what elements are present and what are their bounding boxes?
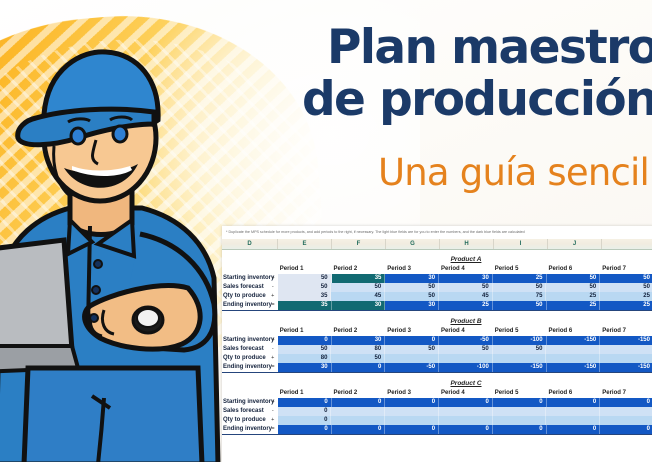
product-title: Product B <box>222 317 652 326</box>
calculated-cell[interactable]: 0 <box>332 363 386 372</box>
input-cell[interactable]: 50 <box>439 283 493 292</box>
period-header: Period 6 <box>546 265 600 274</box>
page-title: Plan maestro de producción <box>327 22 652 126</box>
period-header: Period 4 <box>439 265 493 274</box>
period-header: Period 5 <box>493 265 547 274</box>
table-row: Sales forecast-0 <box>222 407 652 416</box>
input-cell[interactable] <box>600 416 652 425</box>
calculated-cell[interactable]: -50 <box>439 336 493 345</box>
row-label: Sales forecast <box>222 345 268 354</box>
calculated-cell[interactable]: 0 <box>439 425 493 434</box>
calculated-cell[interactable]: 30 <box>439 274 493 283</box>
column-letter-d[interactable]: D <box>222 239 278 249</box>
row-label: Sales forecast <box>222 407 268 416</box>
period-header: Period 3 <box>385 327 439 336</box>
row-operator: - <box>268 283 278 292</box>
input-cell[interactable] <box>439 416 493 425</box>
input-cell[interactable] <box>385 416 439 425</box>
product-title: Product C <box>222 379 652 388</box>
period-header-row: Period 1Period 2Period 3Period 4Period 5… <box>222 326 652 336</box>
row-label: Starting inventory <box>222 398 268 407</box>
calculated-cell[interactable]: 25 <box>439 301 493 310</box>
calculated-cell[interactable]: -150 <box>493 363 547 372</box>
calculated-cell[interactable]: 50 <box>547 274 601 283</box>
row-label: Ending inventory <box>222 301 268 310</box>
calculated-cell[interactable]: 0 <box>385 425 439 434</box>
title-line-2: de producción <box>302 74 652 126</box>
title-line-1: Plan maestro <box>327 22 652 74</box>
input-cell[interactable]: 50 <box>278 283 332 292</box>
period-header: Period 2 <box>331 327 385 336</box>
row-operator: + <box>268 274 278 283</box>
column-letter-i[interactable]: I <box>494 239 548 249</box>
input-cell[interactable]: 50 <box>439 345 493 354</box>
calculated-cell[interactable]: 0 <box>332 398 386 407</box>
calculated-cell[interactable]: 0 <box>600 425 652 434</box>
calculated-cell[interactable]: 0 <box>278 336 332 345</box>
input-cell[interactable]: 80 <box>331 345 385 354</box>
row-operator: + <box>268 336 278 345</box>
row-operator: + <box>268 292 278 301</box>
column-letter-j[interactable]: J <box>548 239 602 249</box>
input-cell[interactable]: 0 <box>278 407 332 416</box>
table-row: Ending inventory=0000000 <box>222 425 652 435</box>
row-operator: + <box>268 398 278 407</box>
row-label: Ending inventory <box>222 425 268 434</box>
calculated-cell[interactable]: 30 <box>385 274 439 283</box>
input-cell[interactable] <box>546 345 600 354</box>
calculated-cell[interactable]: -50 <box>385 363 439 372</box>
period-header: Period 2 <box>331 389 385 398</box>
row-operator: + <box>268 354 278 363</box>
input-cell[interactable]: 50 <box>385 345 439 354</box>
input-cell[interactable]: 50 <box>278 345 332 354</box>
calculated-cell[interactable]: 35 <box>332 274 386 283</box>
table-row: Ending inventory=300-50-100-150-150-150 <box>222 363 652 373</box>
calculated-cell[interactable]: -150 <box>600 363 652 372</box>
period-header: Period 4 <box>439 389 493 398</box>
calculated-cell[interactable]: 30 <box>332 301 386 310</box>
row-operator: = <box>268 363 278 372</box>
period-header: Period 1 <box>278 389 332 398</box>
sheet-note: * Duplicate the MPS schedule for more pr… <box>226 229 652 235</box>
input-cell[interactable] <box>493 354 547 363</box>
period-header: Period 5 <box>493 327 547 336</box>
row-operator: - <box>268 407 278 416</box>
calculated-cell[interactable]: 0 <box>493 398 547 407</box>
input-cell[interactable] <box>546 407 600 416</box>
row-label: Ending inventory <box>222 363 268 372</box>
period-header: Period 3 <box>385 389 439 398</box>
period-header: Period 1 <box>278 265 332 274</box>
sheet-grid[interactable]: Product APeriod 1Period 2Period 3Period … <box>222 249 652 435</box>
input-cell[interactable] <box>331 416 385 425</box>
input-cell[interactable] <box>439 354 493 363</box>
table-row: Starting inventory+0000000 <box>222 398 652 407</box>
calculated-cell[interactable]: 30 <box>332 336 386 345</box>
input-cell[interactable]: 50 <box>493 283 547 292</box>
calculated-cell[interactable]: 50 <box>278 274 332 283</box>
input-cell[interactable]: 35 <box>278 292 332 301</box>
input-cell[interactable]: 50 <box>385 283 439 292</box>
input-cell[interactable]: 45 <box>439 292 493 301</box>
input-cell[interactable] <box>546 354 600 363</box>
row-label: Sales forecast <box>222 283 268 292</box>
row-label: Qty to produce <box>222 354 268 363</box>
column-letter-h[interactable]: H <box>440 239 494 249</box>
calculated-cell[interactable]: 30 <box>385 301 439 310</box>
period-header-row: Period 1Period 2Period 3Period 4Period 5… <box>222 388 652 398</box>
period-header-row: Period 1Period 2Period 3Period 4Period 5… <box>222 264 652 274</box>
row-label: Starting inventory <box>222 336 268 345</box>
calculated-cell[interactable]: 0 <box>278 398 332 407</box>
table-row: Starting inventory+50353030255050 <box>222 274 652 283</box>
slide-canvas: Plan maestro de producción Una guía senc… <box>0 0 652 462</box>
table-row: Qty to produce+35455045752525 <box>222 292 652 301</box>
input-cell[interactable]: 80 <box>278 354 332 363</box>
calculated-cell[interactable]: 35 <box>278 301 332 310</box>
row-operator: + <box>268 416 278 425</box>
row-operator: = <box>268 425 278 434</box>
row-operator: - <box>268 345 278 354</box>
calculated-cell[interactable]: -100 <box>439 363 493 372</box>
input-cell[interactable] <box>600 345 652 354</box>
period-header: Period 1 <box>278 327 332 336</box>
calculated-cell[interactable]: -150 <box>547 363 601 372</box>
input-cell[interactable]: 50 <box>331 354 385 363</box>
period-header: Period 7 <box>600 389 652 398</box>
calculated-cell[interactable]: 0 <box>332 425 386 434</box>
table-row: Sales forecast-50505050505050 <box>222 283 652 292</box>
period-header: Period 7 <box>600 265 652 274</box>
input-cell[interactable]: 50 <box>385 292 439 301</box>
calculated-cell[interactable]: 0 <box>278 425 332 434</box>
period-header: Period 7 <box>600 327 652 336</box>
calculated-cell[interactable]: 50 <box>493 301 547 310</box>
calculated-cell[interactable]: 25 <box>493 274 547 283</box>
calculated-cell[interactable]: -150 <box>600 336 652 345</box>
mps-spreadsheet[interactable]: * Duplicate the MPS schedule for more pr… <box>222 226 652 462</box>
calculated-cell[interactable]: 0 <box>547 425 601 434</box>
period-header: Period 4 <box>439 327 493 336</box>
calculated-cell[interactable]: 0 <box>385 398 439 407</box>
input-cell[interactable] <box>439 407 493 416</box>
input-cell[interactable]: 25 <box>600 292 652 301</box>
input-cell[interactable]: 75 <box>493 292 547 301</box>
input-cell[interactable] <box>331 407 385 416</box>
input-cell[interactable] <box>600 407 652 416</box>
input-cell[interactable]: 50 <box>546 283 600 292</box>
calculated-cell[interactable]: 0 <box>493 425 547 434</box>
row-label: Qty to produce <box>222 416 268 425</box>
column-letter-g[interactable]: G <box>386 239 440 249</box>
input-cell[interactable]: 0 <box>278 416 332 425</box>
product-block: Product CPeriod 1Period 2Period 3Period … <box>222 379 652 435</box>
worker-illustration <box>0 28 222 462</box>
row-label: Starting inventory <box>222 274 268 283</box>
input-cell[interactable] <box>600 354 652 363</box>
period-header: Period 3 <box>385 265 439 274</box>
table-row: Sales forecast-5080505050 <box>222 345 652 354</box>
table-row: Qty to produce+0 <box>222 416 652 425</box>
product-title: Product A <box>222 255 652 264</box>
calculated-cell[interactable]: 30 <box>278 363 332 372</box>
input-cell[interactable] <box>546 416 600 425</box>
calculated-cell[interactable]: -100 <box>493 336 547 345</box>
input-cell[interactable] <box>385 407 439 416</box>
column-letter-e[interactable]: E <box>278 239 332 249</box>
input-cell[interactable] <box>493 407 547 416</box>
product-block: Product APeriod 1Period 2Period 3Period … <box>222 255 652 311</box>
period-header: Period 5 <box>493 389 547 398</box>
input-cell[interactable]: 50 <box>600 283 652 292</box>
calculated-cell[interactable]: 50 <box>600 274 652 283</box>
input-cell[interactable]: 25 <box>546 292 600 301</box>
column-letter-f[interactable]: F <box>332 239 386 249</box>
input-cell[interactable]: 50 <box>493 345 547 354</box>
row-operator: = <box>268 301 278 310</box>
table-row: Ending inventory=35303025502525 <box>222 301 652 311</box>
product-block: Product BPeriod 1Period 2Period 3Period … <box>222 317 652 373</box>
page-subtitle: Una guía sencilla <box>378 152 652 194</box>
input-cell[interactable]: 50 <box>331 283 385 292</box>
calculated-cell[interactable]: 0 <box>385 336 439 345</box>
input-cell[interactable]: 45 <box>331 292 385 301</box>
input-cell[interactable] <box>385 354 439 363</box>
table-row: Starting inventory+0300-50-100-150-150 <box>222 336 652 345</box>
period-header: Period 2 <box>331 265 385 274</box>
input-cell[interactable] <box>493 416 547 425</box>
calculated-cell[interactable]: -150 <box>547 336 601 345</box>
period-header: Period 6 <box>546 389 600 398</box>
calculated-cell[interactable]: 25 <box>600 301 652 310</box>
period-header: Period 6 <box>546 327 600 336</box>
table-row: Qty to produce+8050 <box>222 354 652 363</box>
calculated-cell[interactable]: 0 <box>439 398 493 407</box>
row-label: Qty to produce <box>222 292 268 301</box>
calculated-cell[interactable]: 0 <box>600 398 652 407</box>
calculated-cell[interactable]: 25 <box>547 301 601 310</box>
calculated-cell[interactable]: 0 <box>547 398 601 407</box>
